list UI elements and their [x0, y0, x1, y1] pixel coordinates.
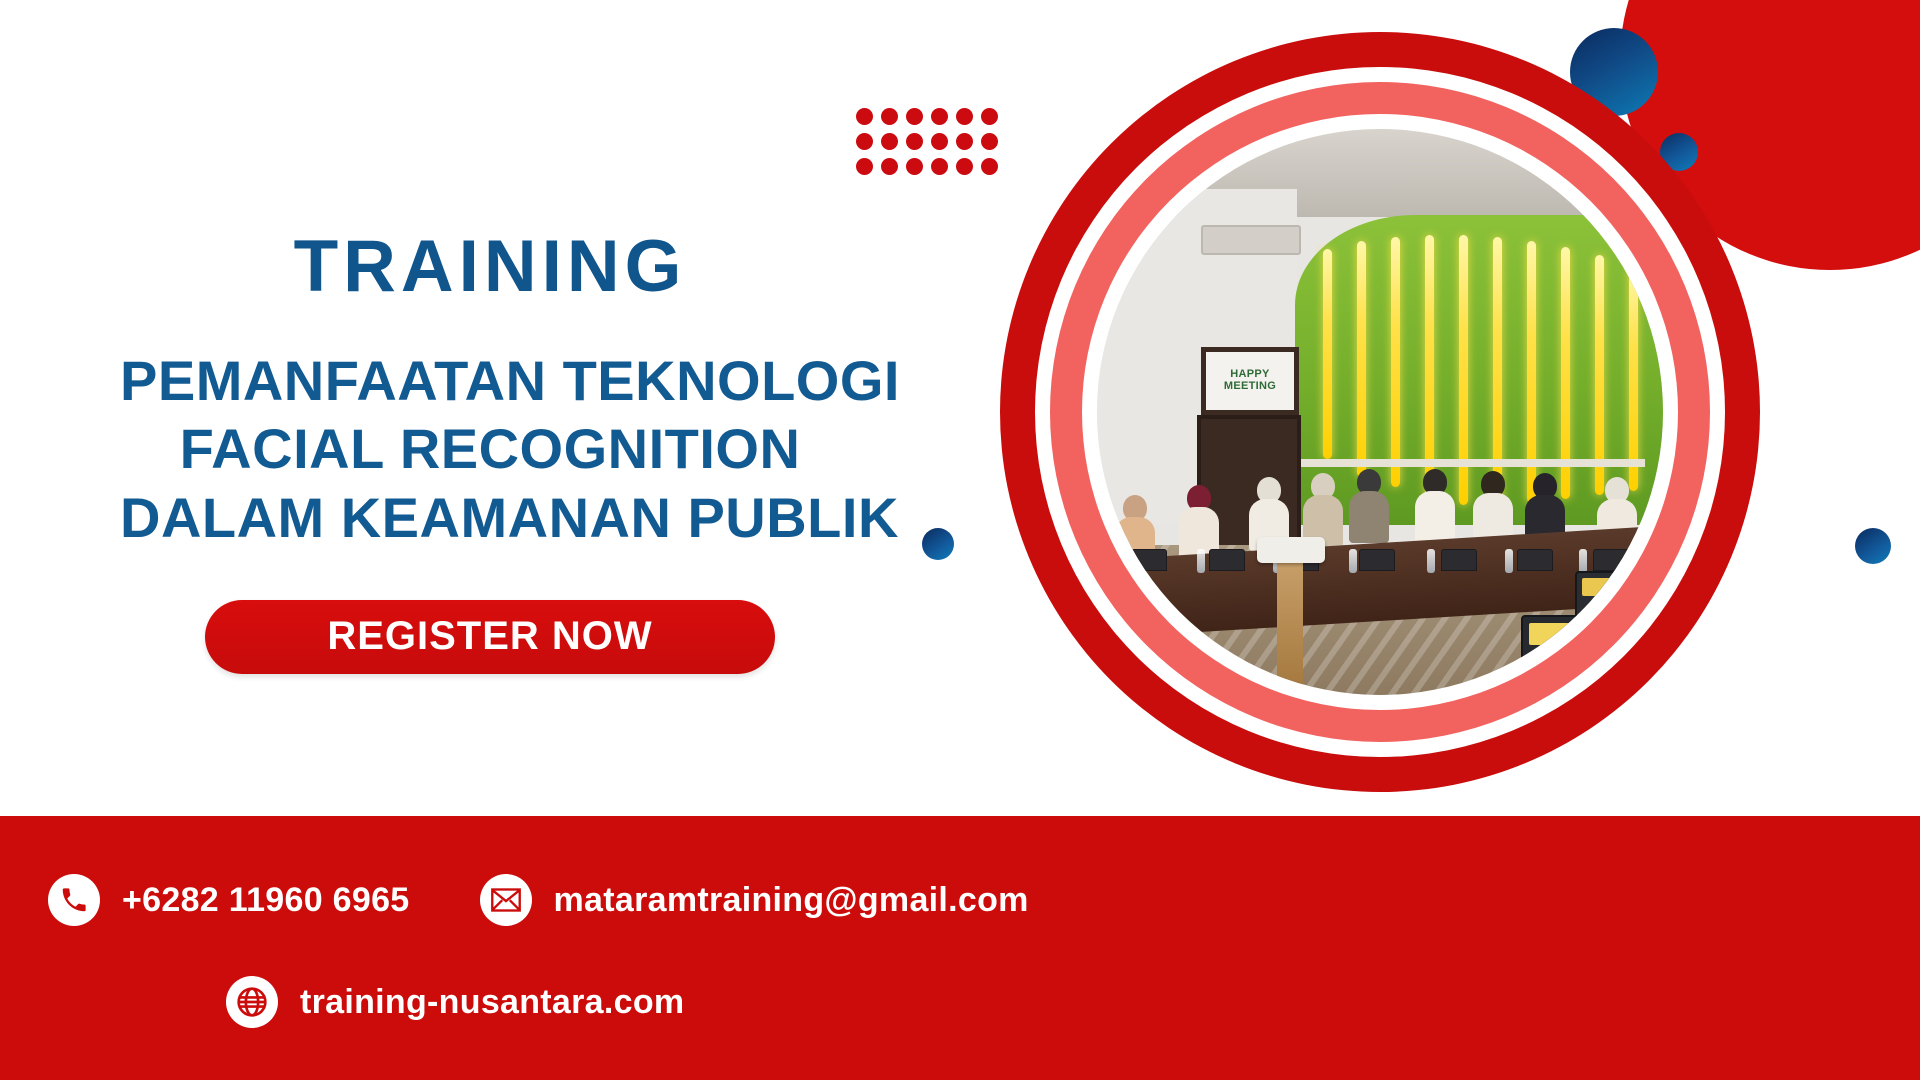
water-bottle — [1427, 549, 1435, 573]
photo-ring-inner-white: HAPPY MEETING — [1082, 114, 1678, 710]
dot — [931, 158, 948, 175]
participant — [1303, 473, 1343, 545]
contact-row-primary: +6282 11960 6965 mataramtraining@gmail.c… — [48, 874, 1029, 926]
laptop-screen — [1593, 549, 1629, 571]
laptop — [1131, 553, 1165, 575]
headline-block: TRAINING PEMANFAATAN TEKNOLOGI FACIAL RE… — [120, 230, 860, 674]
blue-dot-right-decoration — [1855, 528, 1891, 564]
laptop-screen — [1359, 549, 1395, 571]
laptop-screen — [1441, 549, 1477, 571]
dot — [981, 158, 998, 175]
participant — [1179, 485, 1219, 557]
dot — [956, 158, 973, 175]
neon-strip — [1391, 237, 1400, 487]
meeting-room-scene: HAPPY MEETING — [1097, 129, 1663, 695]
dot — [906, 133, 923, 150]
laptop-screen — [1517, 549, 1553, 571]
foreground-laptop-secondary — [1575, 571, 1653, 625]
air-conditioner — [1201, 225, 1301, 255]
dot — [906, 158, 923, 175]
sign-line-2: MEETING — [1224, 381, 1276, 393]
water-bottle — [1349, 549, 1357, 573]
participant — [1473, 471, 1513, 543]
website-url: training-nusantara.com — [300, 983, 684, 1022]
screen-content — [1582, 578, 1650, 596]
training-photo: HAPPY MEETING — [1097, 129, 1663, 695]
body — [1349, 491, 1389, 543]
dot — [931, 133, 948, 150]
laptop — [1517, 553, 1551, 575]
projector-stand — [1277, 557, 1303, 687]
email-address: mataramtraining@gmail.com — [554, 881, 1029, 920]
contact-email[interactable]: mataramtraining@gmail.com — [480, 874, 1029, 926]
page-title: PEMANFAATAN TEKNOLOGI FACIAL RECOGNITION… — [120, 347, 860, 552]
register-now-button[interactable]: REGISTER NOW — [205, 600, 775, 674]
neon-strip — [1629, 267, 1638, 491]
red-dot-grid-decoration — [856, 108, 998, 175]
water-bottle — [1121, 549, 1129, 573]
dot — [906, 108, 923, 125]
dot — [856, 133, 873, 150]
dot — [856, 108, 873, 125]
contact-row-secondary: training-nusantara.com — [226, 976, 684, 1028]
dot — [981, 133, 998, 150]
phone-number: +6282 11960 6965 — [122, 881, 410, 920]
eyebrow-label: TRAINING — [120, 230, 860, 303]
globe-icon — [226, 976, 278, 1028]
phone-icon — [48, 874, 100, 926]
dot — [956, 133, 973, 150]
body — [1415, 491, 1455, 543]
dot — [931, 108, 948, 125]
water-bottle — [1197, 549, 1205, 573]
headline-line-3: DALAM KEAMANAN PUBLIK — [120, 484, 860, 552]
water-bottle — [1579, 549, 1587, 573]
dot — [881, 108, 898, 125]
headline-line-2: FACIAL RECOGNITION — [120, 415, 860, 483]
dot — [856, 158, 873, 175]
contact-bar: +6282 11960 6965 mataramtraining@gmail.c… — [0, 816, 1920, 1080]
laptop-screen — [1575, 571, 1657, 621]
photo-ring-outer-white: HAPPY MEETING — [1035, 67, 1725, 757]
contact-phone[interactable]: +6282 11960 6965 — [48, 874, 410, 926]
water-bottle — [1505, 549, 1513, 573]
contact-website[interactable]: training-nusantara.com — [226, 976, 684, 1028]
participant — [1349, 469, 1389, 541]
laptop-screen — [1209, 549, 1245, 571]
dot — [881, 158, 898, 175]
headline-line-1: PEMANFAATAN TEKNOLOGI — [120, 347, 860, 415]
neon-strip — [1425, 235, 1434, 497]
laptop — [1359, 553, 1393, 575]
envelope-icon — [480, 874, 532, 926]
participant — [1415, 469, 1455, 541]
dot — [881, 133, 898, 150]
wall-shelf — [1297, 459, 1645, 467]
training-poster: TRAINING PEMANFAATAN TEKNOLOGI FACIAL RE… — [0, 0, 1920, 1080]
laptop — [1441, 553, 1475, 575]
dot — [981, 108, 998, 125]
screen-content — [1529, 623, 1613, 645]
laptop-screen — [1131, 549, 1167, 571]
cta-container: REGISTER NOW — [120, 600, 860, 674]
laptop — [1209, 553, 1243, 575]
photo-ring-light-red: HAPPY MEETING — [1050, 82, 1710, 742]
happy-meeting-sign: HAPPY MEETING — [1201, 347, 1299, 415]
neon-strip — [1357, 241, 1366, 477]
blue-dot-left-decoration — [922, 528, 954, 560]
neon-strip — [1323, 249, 1332, 459]
projector — [1257, 537, 1325, 563]
photo-circle-frame: HAPPY MEETING — [1000, 32, 1760, 792]
dot — [956, 108, 973, 125]
